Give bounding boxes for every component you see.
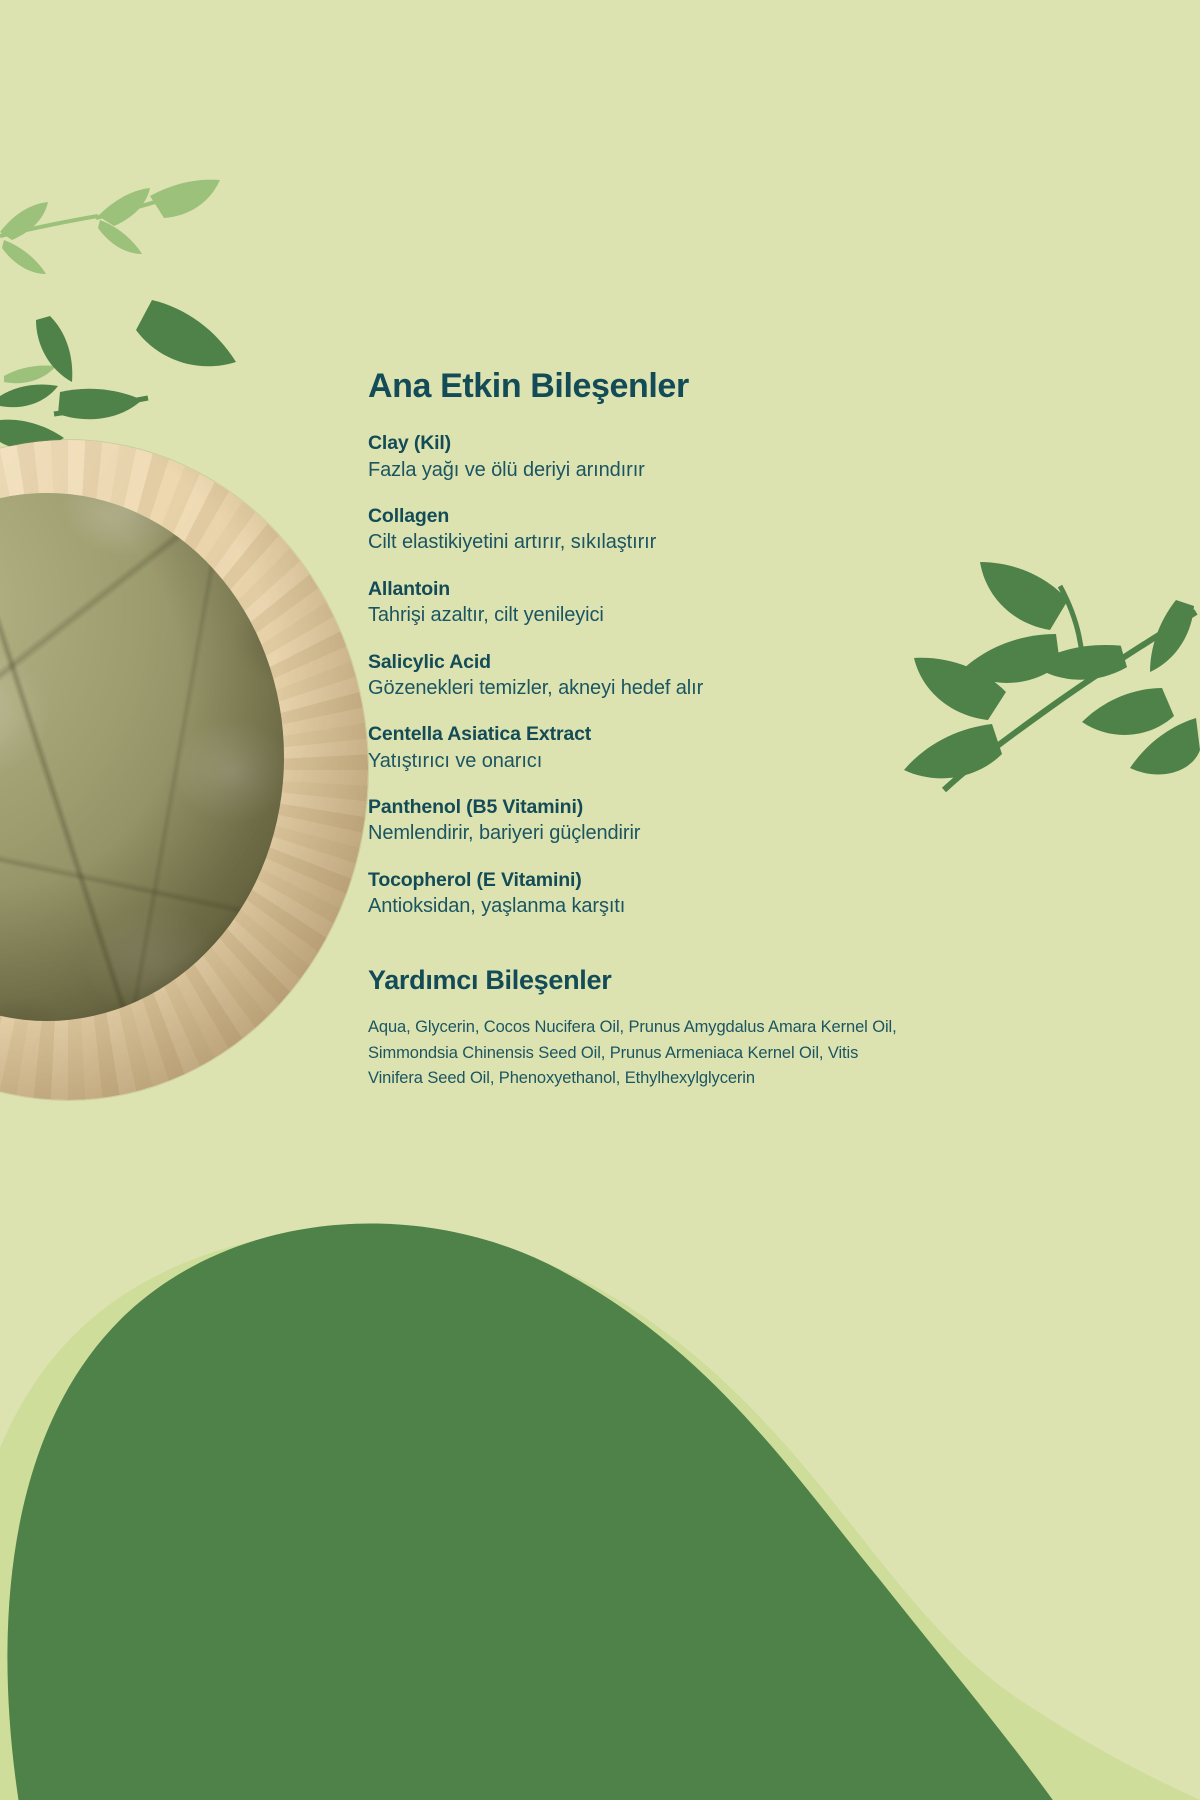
ingredient-description: Yatıştırıcı ve onarıcı [368,748,928,774]
ingredient-description: Fazla yağı ve ölü deriyi arındırır [368,457,928,483]
ingredient-item: Collagen Cilt elastikiyetini artırır, sı… [368,504,928,556]
ingredient-description: Antioksidan, yaşlanma karşıtı [368,893,928,919]
wooden-bowl [0,440,368,1100]
leaf-branch-right [904,562,1200,790]
ingredient-name: Clay (Kil) [368,431,928,456]
ingredients-content: Ana Etkin Bileşenler Clay (Kil) Fazla ya… [368,368,928,1092]
ingredient-description: Nemlendirir, bariyeri güçlendirir [368,820,928,846]
main-section-title: Ana Etkin Bileşenler [368,368,928,405]
aux-section-title: Yardımcı Bileşenler [368,966,928,996]
leaf-branch-top-left [0,180,220,274]
ingredient-name: Allantoin [368,577,928,602]
ingredient-name: Tocopherol (E Vitamini) [368,868,928,893]
ingredient-item: Tocopherol (E Vitamini) Antioksidan, yaş… [368,868,928,920]
ingredient-item: Panthenol (B5 Vitamini) Nemlendirir, bar… [368,795,928,847]
ingredient-name: Panthenol (B5 Vitamini) [368,795,928,820]
aux-ingredient-text: Aqua, Glycerin, Cocos Nucifera Oil, Prun… [368,1015,908,1092]
product-photo-clay-bowl [0,440,368,1100]
ingredient-item: Salicylic Acid Gözenekleri temizler, akn… [368,650,928,702]
ingredient-item: Centella Asiatica Extract Yatıştırıcı ve… [368,722,928,774]
blob-bottom-dark [7,1223,1060,1800]
ingredient-item: Allantoin Tahrişi azaltır, cilt yenileyi… [368,577,928,629]
ingredient-item: Clay (Kil) Fazla yağı ve ölü deriyi arın… [368,431,928,483]
poster-canvas: Ana Etkin Bileşenler Clay (Kil) Fazla ya… [0,0,1200,1800]
ingredient-description: Cilt elastikiyetini artırır, sıkılaştırı… [368,529,928,555]
ingredient-name: Centella Asiatica Extract [368,722,928,747]
ingredient-name: Salicylic Acid [368,650,928,675]
ingredient-description: Gözenekleri temizler, akneyi hedef alır [368,675,928,701]
clay-powder [0,493,284,1021]
leaf-single-left [4,365,56,383]
main-ingredient-list: Clay (Kil) Fazla yağı ve ölü deriyi arın… [368,431,928,919]
ingredient-description: Tahrişi azaltır, cilt yenileyici [368,602,928,628]
ingredient-name: Collagen [368,504,928,529]
